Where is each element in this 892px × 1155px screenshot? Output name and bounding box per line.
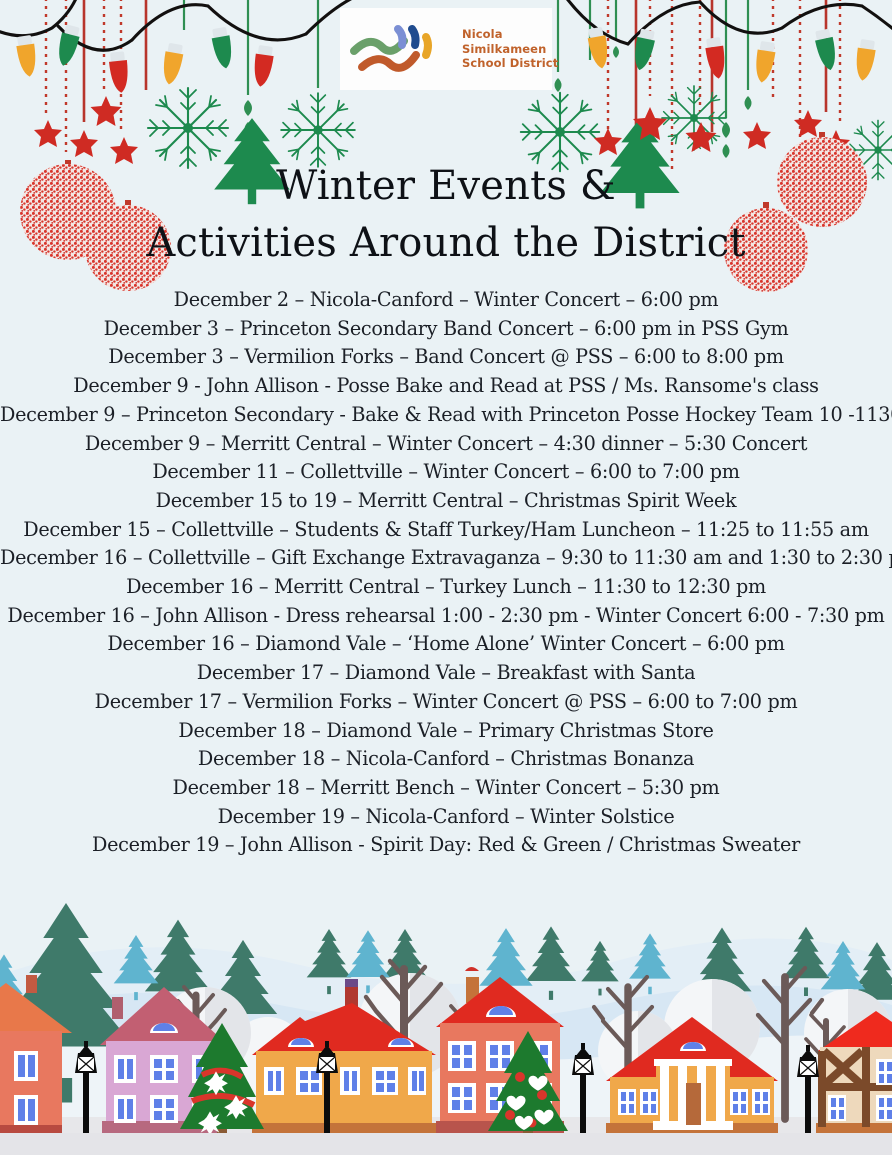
event-list-item: December 19 – Nicola-Canford – Winter So…: [0, 803, 892, 832]
page-title: Winter Events & Activities Around the Di…: [0, 158, 892, 272]
event-list-item: December 18 – Nicola-Canford – Christmas…: [0, 745, 892, 774]
logo-line-2: Similkameen: [462, 42, 558, 57]
logo-line-1: Nicola: [462, 27, 558, 42]
event-list-item: December 18 – Diamond Vale – Primary Chr…: [0, 717, 892, 746]
event-list-item: December 2 – Nicola-Canford – Winter Con…: [0, 286, 892, 315]
event-list-item: December 16 – Collettville – Gift Exchan…: [0, 544, 892, 573]
event-list-item: December 15 to 19 – Merritt Central – Ch…: [0, 487, 892, 516]
event-list-item: December 16 – Diamond Vale – ‘Home Alone…: [0, 630, 892, 659]
school-district-logo: Nicola Similkameen School District: [340, 8, 552, 90]
logo-mark-icon: [348, 17, 460, 81]
title-line-2: Activities Around the District: [0, 215, 892, 272]
winter-events-poster: Nicola Similkameen School District Winte…: [0, 0, 892, 1155]
event-list-item: December 15 – Collettville – Students & …: [0, 516, 892, 545]
event-list-item: December 17 – Diamond Vale – Breakfast w…: [0, 659, 892, 688]
event-list-item: December 16 – John Allison - Dress rehea…: [0, 602, 892, 631]
event-list: December 2 – Nicola-Canford – Winter Con…: [0, 286, 892, 860]
event-list-item: December 3 – Vermilion Forks – Band Conc…: [0, 343, 892, 372]
title-line-1: Winter Events &: [0, 158, 892, 215]
event-list-item: December 11 – Collettville – Winter Conc…: [0, 458, 892, 487]
event-list-item: December 3 – Princeton Secondary Band Co…: [0, 315, 892, 344]
event-list-item: December 19 – John Allison - Spirit Day:…: [0, 831, 892, 860]
bottom-village-scene: [0, 855, 892, 1155]
event-list-item: December 9 – Merritt Central – Winter Co…: [0, 430, 892, 459]
logo-line-3: School District: [462, 56, 558, 71]
event-list-item: December 16 – Merritt Central – Turkey L…: [0, 573, 892, 602]
event-list-item: December 9 – Princeton Secondary - Bake …: [0, 401, 892, 430]
village-graphics: [0, 855, 892, 1155]
event-list-item: December 18 – Merritt Bench – Winter Con…: [0, 774, 892, 803]
logo-text-block: Nicola Similkameen School District: [462, 27, 558, 71]
event-list-item: December 17 – Vermilion Forks – Winter C…: [0, 688, 892, 717]
event-list-item: December 9 - John Allison - Posse Bake a…: [0, 372, 892, 401]
